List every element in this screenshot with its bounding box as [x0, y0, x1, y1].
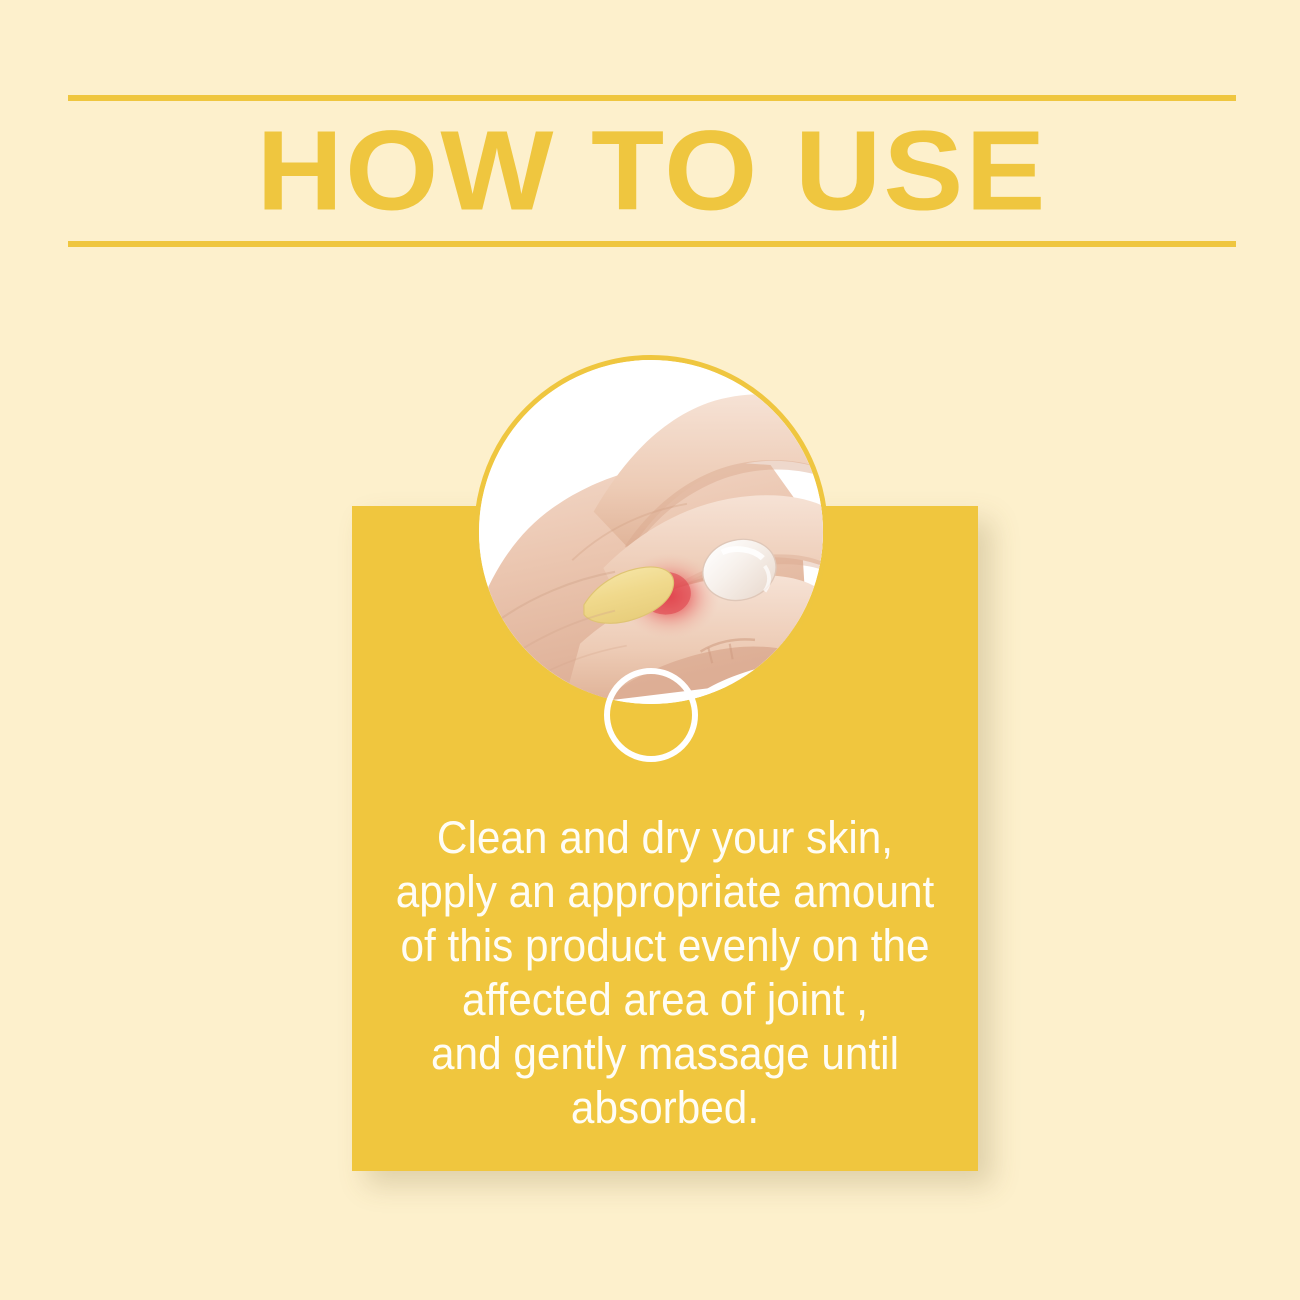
instruction-text: Clean and dry your skin, apply an approp… [371, 811, 959, 1135]
header-top-rule [68, 95, 1236, 101]
accent-ring-icon [604, 668, 698, 762]
page-title: HOW TO USE [33, 115, 1271, 228]
hand-photo-circle [474, 355, 828, 709]
hand-illustration-icon [479, 360, 823, 704]
header-bottom-rule [68, 241, 1236, 247]
header-banner: HOW TO USE [68, 95, 1236, 247]
